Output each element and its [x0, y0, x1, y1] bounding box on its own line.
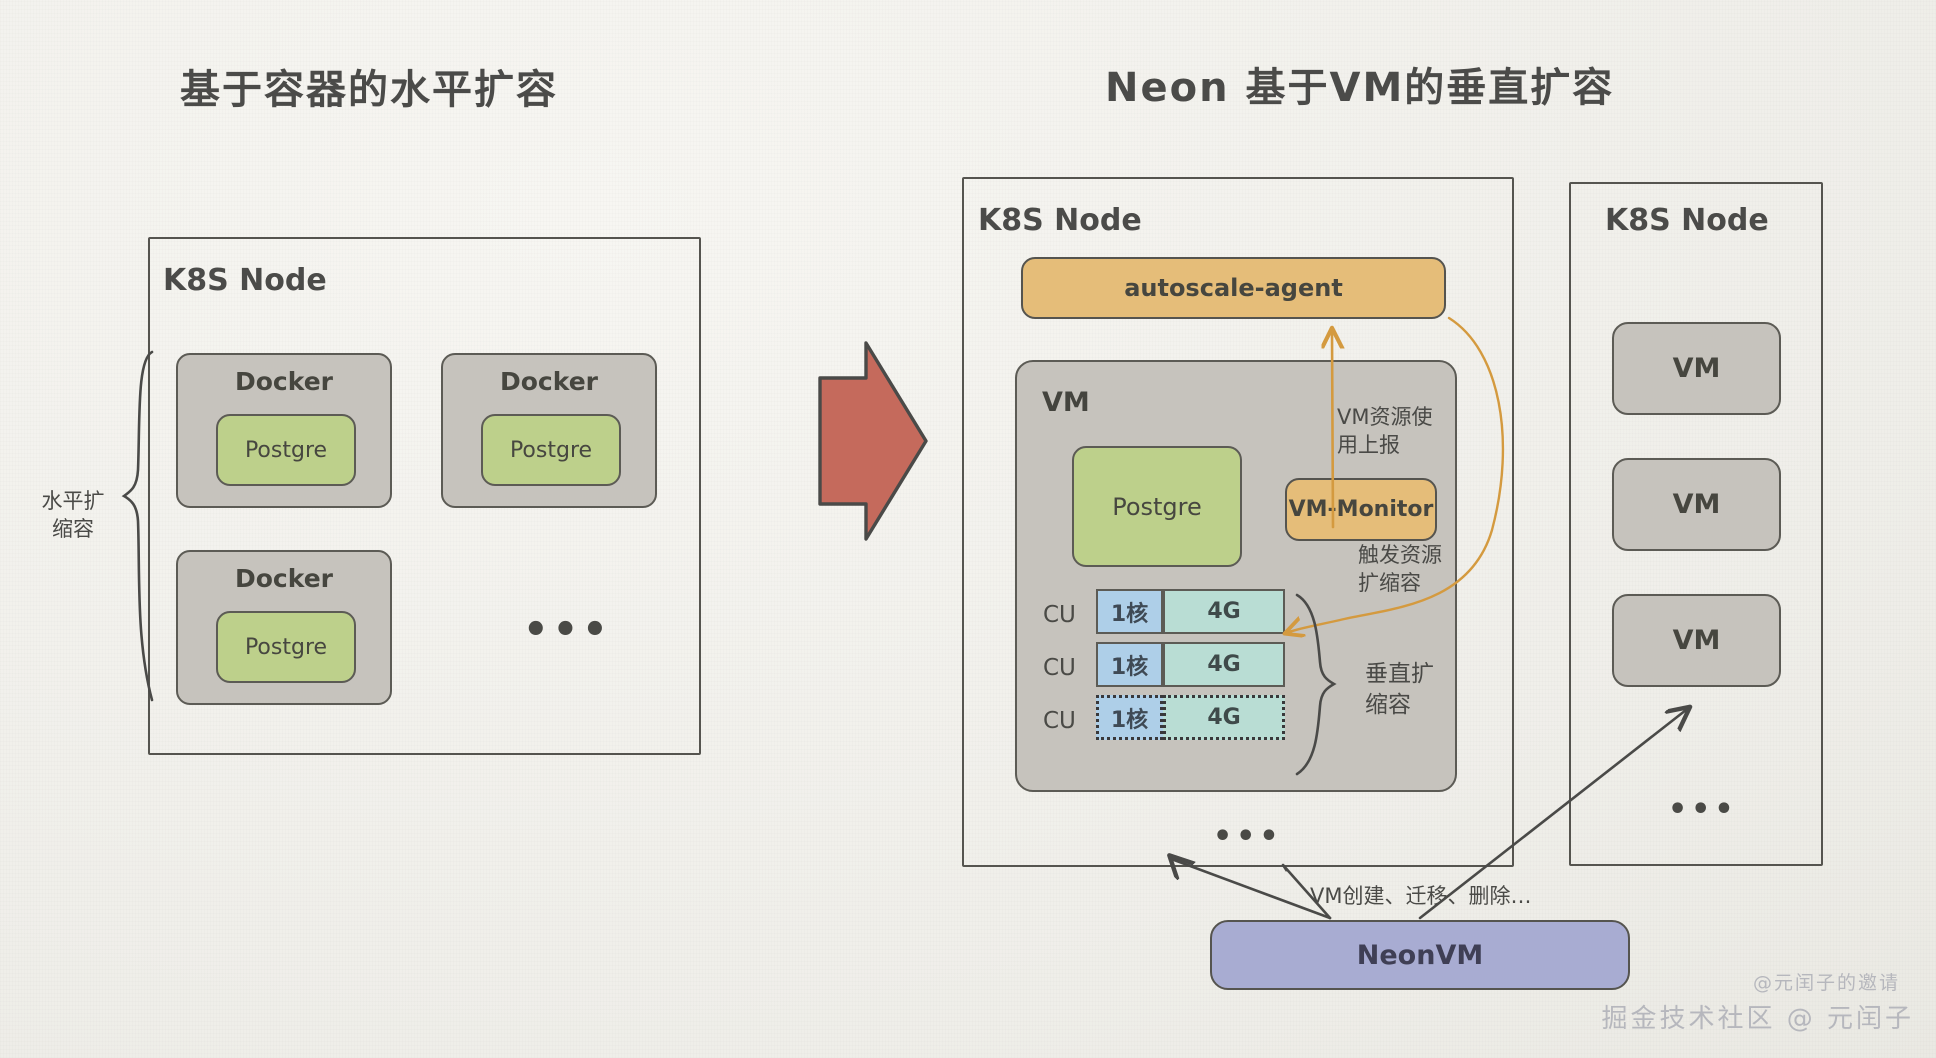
watermark-site: 掘金技术社区 @ 元闰子: [1601, 998, 1914, 1035]
cu-cpu-3[interactable]: 1核: [1096, 695, 1163, 740]
vm-card-2[interactable]: VM: [1612, 458, 1781, 551]
right-k8s-node1-label: K8S Node: [978, 203, 1142, 238]
vm-postgre-box[interactable]: Postgre: [1072, 446, 1242, 567]
postgre-box[interactable]: Postgre: [481, 414, 621, 486]
cu-mem-2[interactable]: 4G: [1163, 642, 1285, 687]
vm-monitor-box[interactable]: VM-Monitor: [1285, 478, 1437, 541]
cu-cpu-2[interactable]: 1核: [1096, 642, 1163, 687]
docker-title: Docker: [178, 367, 390, 396]
right-arrow-icon: [820, 343, 926, 539]
right-k8s-node2-label: K8S Node: [1605, 203, 1769, 238]
docker-title: Docker: [443, 367, 655, 396]
docker-container-1[interactable]: Docker Postgre: [176, 353, 392, 508]
left-ellipsis: •••: [523, 610, 612, 650]
cu-cpu-1[interactable]: 1核: [1096, 589, 1163, 634]
autoscale-agent-box[interactable]: autoscale-agent: [1021, 257, 1446, 319]
vertical-scaling-note: 垂直扩 缩容: [1365, 659, 1475, 721]
neonvm-box[interactable]: NeonVM: [1210, 920, 1630, 990]
cu-label-3: CU: [1043, 708, 1076, 734]
vm-resource-report-note: VM资源使 用上报: [1337, 403, 1447, 460]
postgre-box[interactable]: Postgre: [216, 611, 356, 683]
vm-card-3[interactable]: VM: [1612, 594, 1781, 687]
watermark-author: @元闰子的邀请: [1753, 968, 1900, 995]
docker-container-2[interactable]: Docker Postgre: [441, 353, 657, 508]
cu-label-1: CU: [1043, 602, 1076, 628]
right-panel-title: Neon 基于VM的垂直扩容: [1105, 55, 1614, 113]
horizontal-scaling-note: 水平扩 缩容: [18, 487, 128, 544]
vm-lifecycle-note: VM创建、迁移、删除…: [1310, 880, 1531, 910]
docker-container-3[interactable]: Docker Postgre: [176, 550, 392, 705]
docker-title: Docker: [178, 564, 390, 593]
cu-mem-3[interactable]: 4G: [1163, 695, 1285, 740]
trigger-scaling-note: 触发资源 扩缩容: [1358, 541, 1468, 598]
left-panel-title: 基于容器的水平扩容: [180, 57, 558, 115]
cu-mem-1[interactable]: 4G: [1163, 589, 1285, 634]
left-k8s-node-label: K8S Node: [163, 263, 327, 298]
neonvm-to-vm-long: [1173, 859, 1330, 918]
right-node2-ellipsis: •••: [1668, 795, 1738, 825]
vm-card-1[interactable]: VM: [1612, 322, 1781, 415]
right-node1-ellipsis: •••: [1213, 822, 1283, 852]
postgre-box[interactable]: Postgre: [216, 414, 356, 486]
vm-label: VM: [1042, 387, 1090, 418]
cu-label-2: CU: [1043, 655, 1076, 681]
